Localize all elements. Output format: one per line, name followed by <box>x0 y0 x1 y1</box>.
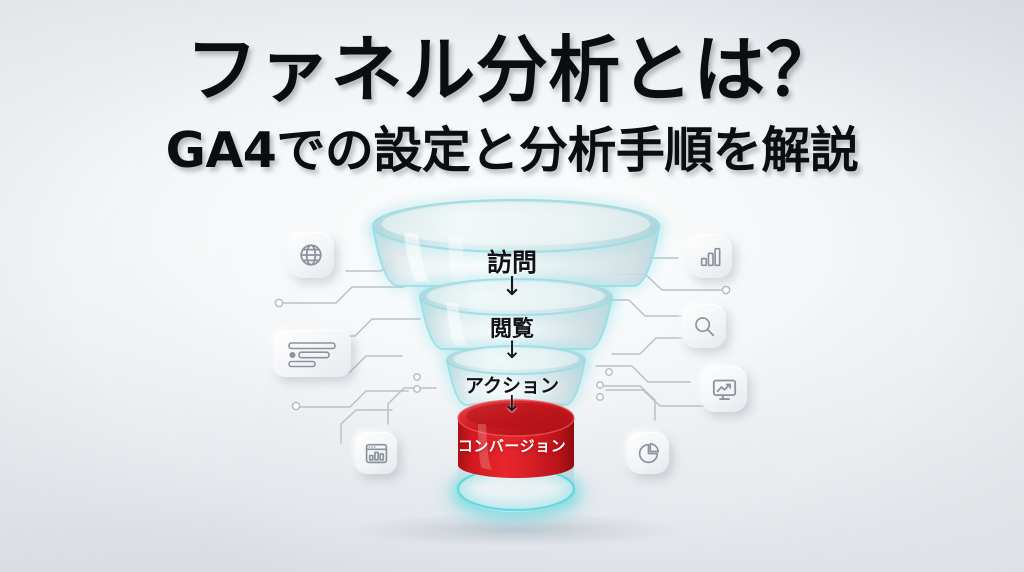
page-title: ファネル分析とは？ <box>0 34 1024 106</box>
funnel-arrow-2: ↓ <box>0 338 1024 362</box>
funnel-label-stage-4: コンバージョン <box>0 435 1024 456</box>
title-block: ファネル分析とは？ GA4での設定と分析手順を解説 <box>0 0 1024 175</box>
funnel-arrow-3: ↓ <box>0 394 1024 416</box>
funnel-arrow-1: ↓ <box>0 274 1024 300</box>
thumbnail-canvas: 訪問 ↓ 閲覧 ↓ アクション ↓ コンバージョン <box>0 0 1024 572</box>
page-subtitle: GA4での設定と分析手順を解説 <box>0 126 1024 175</box>
